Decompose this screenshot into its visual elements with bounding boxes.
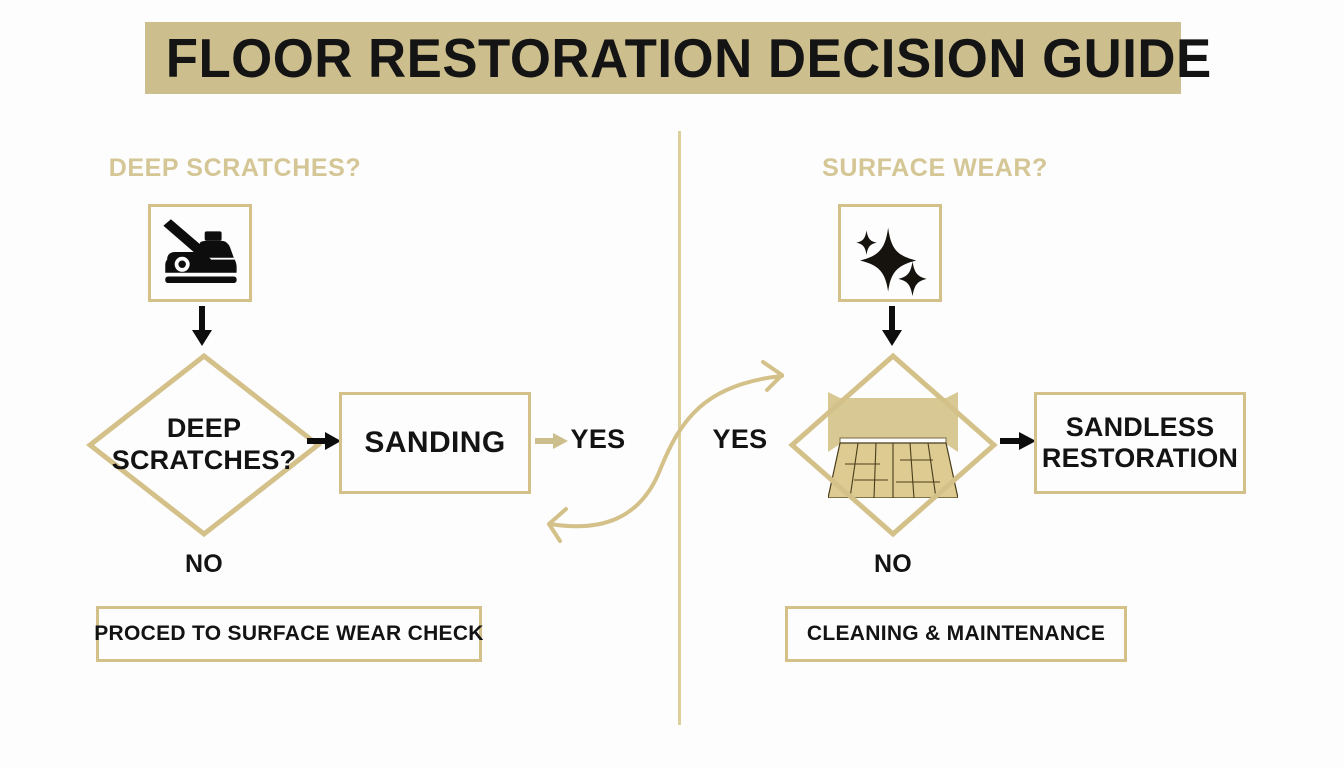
outcome-box-proceed: PROCED TO SURFACE WEAR CHECK	[96, 606, 482, 662]
decision-label-left: DEEP SCRATCHES?	[86, 352, 322, 538]
outcome-sandless-line2: RESTORATION	[1042, 443, 1238, 474]
branch-header-right: SURFACE WEAR?	[790, 154, 1080, 183]
no-label-right: NO	[843, 550, 943, 579]
outcome-sandless-line1: SANDLESS	[1066, 412, 1215, 443]
wood-floor-room-illustration	[828, 392, 958, 498]
arrow-icon-to-decision-right	[879, 306, 905, 348]
page-title: FLOOR RESTORATION DECISION GUIDE	[166, 22, 1161, 94]
sparkle-icon	[841, 207, 939, 299]
decision-label-left-line1: DEEP	[167, 413, 241, 445]
branch-header-left: DEEP SCRATCHES?	[90, 154, 380, 183]
arrow-icon-to-decision-left	[189, 306, 215, 348]
decision-diamond-right	[788, 352, 998, 538]
arrow-decision-to-sanding	[305, 424, 343, 458]
title-band: FLOOR RESTORATION DECISION GUIDE	[145, 22, 1181, 94]
icon-box-right	[838, 204, 942, 302]
diagram-canvas: FLOOR RESTORATION DECISION GUIDE DEEP SC…	[0, 0, 1344, 768]
outcome-box-sanding: SANDING	[339, 392, 531, 494]
outcome-box-cleaning: CLEANING & MAINTENANCE	[785, 606, 1127, 662]
no-label-left: NO	[154, 550, 254, 579]
decision-label-left-line2: SCRATCHES?	[112, 445, 297, 477]
icon-box-left	[148, 204, 252, 302]
outcome-box-sandless: SANDLESS RESTORATION	[1034, 392, 1246, 494]
yes-label-right: YES	[694, 424, 786, 455]
outcome-cleaning-label: CLEANING & MAINTENANCE	[807, 622, 1105, 646]
outcome-proceed-label: PROCED TO SURFACE WEAR CHECK	[94, 622, 484, 646]
diamond-shape-right	[788, 352, 998, 538]
floor-sander-icon	[151, 207, 249, 299]
arrow-decision-to-sandless	[996, 424, 1038, 458]
decision-diamond-left: DEEP SCRATCHES?	[86, 352, 322, 538]
outcome-sanding-label: SANDING	[364, 426, 505, 460]
